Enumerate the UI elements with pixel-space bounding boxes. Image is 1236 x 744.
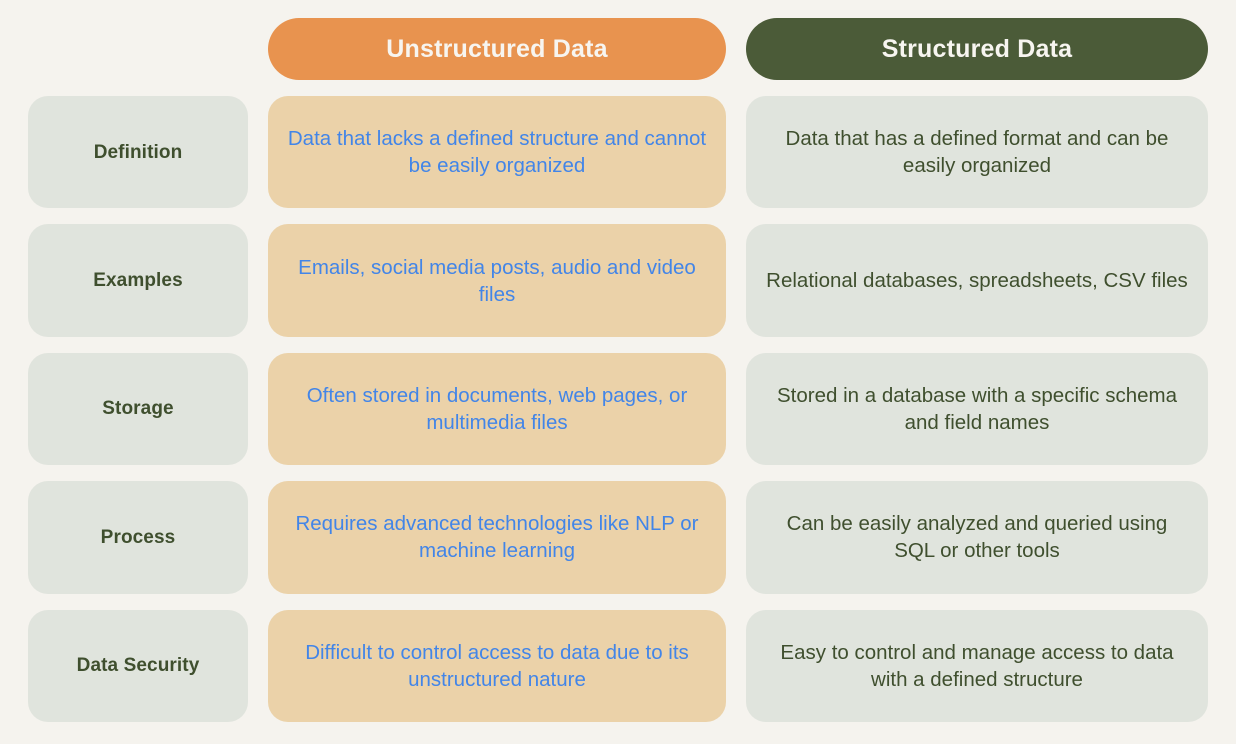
cell-text: Data that has a defined format and can b…: [764, 125, 1190, 179]
cell-structured-storage: Stored in a database with a specific sch…: [746, 353, 1208, 465]
cell-structured-examples: Relational databases, spreadsheets, CSV …: [746, 224, 1208, 336]
table-row: Storage Often stored in documents, web p…: [28, 353, 1208, 465]
row-label-text: Storage: [102, 396, 173, 421]
cell-structured-process: Can be easily analyzed and queried using…: [746, 481, 1208, 593]
cell-text: Relational databases, spreadsheets, CSV …: [766, 267, 1188, 294]
row-label-text: Examples: [93, 268, 183, 293]
table-row: Process Requires advanced technologies l…: [28, 481, 1208, 593]
cell-structured-data-security: Easy to control and manage access to dat…: [746, 610, 1208, 722]
row-label-text: Definition: [94, 140, 183, 165]
row-label-process: Process: [28, 481, 248, 593]
column-header-unstructured-data: Unstructured Data: [268, 18, 726, 80]
cell-text: Emails, social media posts, audio and vi…: [286, 254, 708, 308]
cell-unstructured-definition: Data that lacks a defined structure and …: [268, 96, 726, 208]
column-header-structured-label: Structured Data: [882, 35, 1073, 64]
cell-unstructured-data-security: Difficult to control access to data due …: [268, 610, 726, 722]
table-row: Examples Emails, social media posts, aud…: [28, 224, 1208, 336]
row-label-storage: Storage: [28, 353, 248, 465]
cell-unstructured-process: Requires advanced technologies like NLP …: [268, 481, 726, 593]
header-label-spacer: [28, 18, 248, 80]
row-label-text: Process: [101, 525, 176, 550]
cell-text: Requires advanced technologies like NLP …: [286, 510, 708, 564]
row-label-text: Data Security: [77, 653, 200, 678]
cell-structured-definition: Data that has a defined format and can b…: [746, 96, 1208, 208]
table-header-row: Unstructured Data Structured Data: [28, 18, 1208, 80]
cell-text: Often stored in documents, web pages, or…: [286, 382, 708, 436]
cell-text: Data that lacks a defined structure and …: [286, 125, 708, 179]
cell-text: Can be easily analyzed and queried using…: [764, 510, 1190, 564]
table-row: Definition Data that lacks a defined str…: [28, 96, 1208, 208]
cell-unstructured-storage: Often stored in documents, web pages, or…: [268, 353, 726, 465]
cell-unstructured-examples: Emails, social media posts, audio and vi…: [268, 224, 726, 336]
row-label-data-security: Data Security: [28, 610, 248, 722]
column-header-structured-data: Structured Data: [746, 18, 1208, 80]
row-label-examples: Examples: [28, 224, 248, 336]
cell-text: Easy to control and manage access to dat…: [764, 639, 1190, 693]
cell-text: Stored in a database with a specific sch…: [764, 382, 1190, 436]
table-row: Data Security Difficult to control acces…: [28, 610, 1208, 722]
row-label-definition: Definition: [28, 96, 248, 208]
cell-text: Difficult to control access to data due …: [286, 639, 708, 693]
column-header-unstructured-label: Unstructured Data: [386, 35, 608, 64]
comparison-table: Unstructured Data Structured Data Defini…: [0, 0, 1236, 744]
